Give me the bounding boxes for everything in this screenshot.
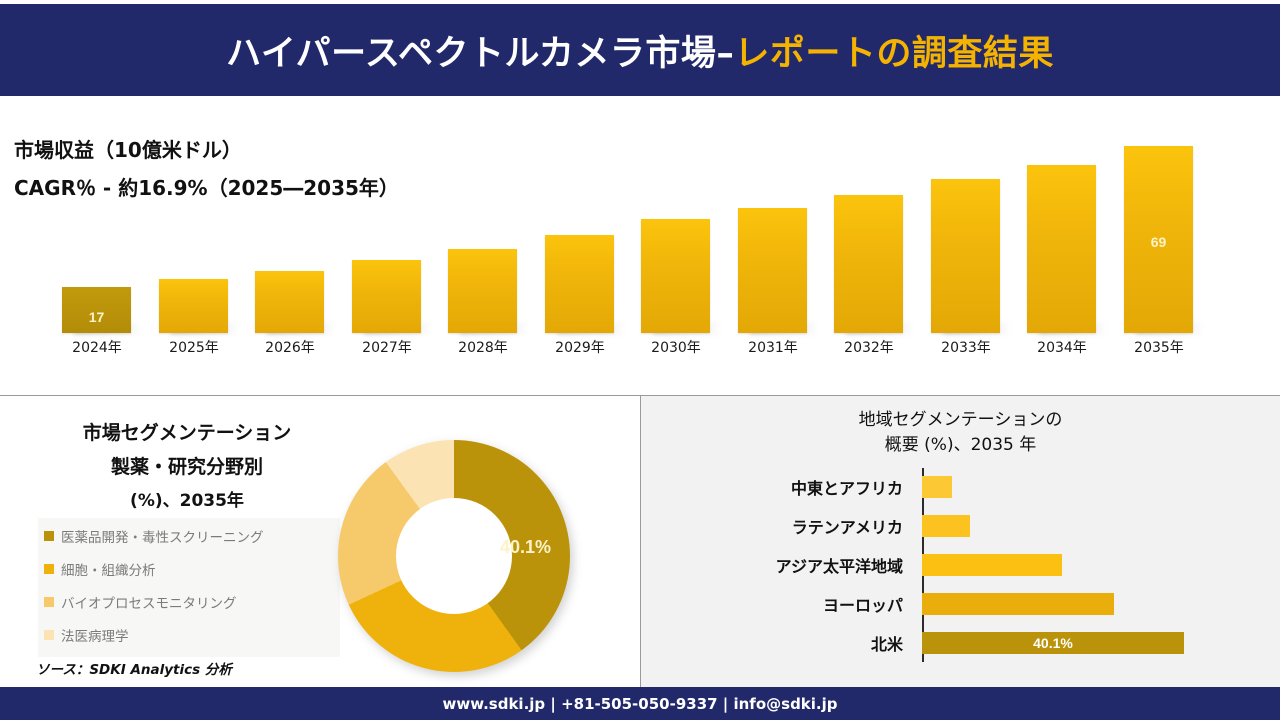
page-title-main: ハイパースペクトルカメラ市場– [226, 34, 734, 74]
regional-category-label: アジア太平洋地域 [641, 553, 915, 577]
regional-category-label: ヨーロッパ [641, 592, 915, 616]
page-header: ハイパースペクトルカメラ市場–レポートの調査結果 [0, 4, 1280, 96]
bar-category-label: 2027年 [337, 337, 437, 357]
bar-category-label: 2032年 [819, 337, 919, 357]
regional-category-label: ラテンアメリカ [641, 514, 915, 538]
bar-column[interactable] [545, 235, 614, 333]
legend-item[interactable]: 医薬品開発・毒性スクリーニング [44, 526, 334, 546]
legend-item-label: 細胞・組織分析 [61, 559, 156, 579]
bar-column[interactable] [352, 260, 421, 333]
regional-bar[interactable] [922, 515, 970, 537]
page-title: ハイパースペクトルカメラ市場–レポートの調査結果 [226, 25, 1054, 76]
revenue-bars: 172024年2025年2026年2027年2028年2029年2030年203… [0, 96, 1280, 395]
bar-column[interactable] [834, 195, 903, 333]
segmentation-title-line3: (%)、2035年 [22, 484, 352, 518]
legend-item[interactable]: 法医病理学 [44, 625, 334, 645]
bar-category-label: 2025年 [144, 337, 244, 357]
bar-column[interactable]: 17 [62, 287, 131, 333]
donut-hole [396, 498, 512, 614]
page-title-accent: レポートの調査結果 [734, 34, 1054, 74]
legend-item[interactable]: バイオプロセスモニタリング [44, 592, 334, 612]
bar-column[interactable] [159, 279, 228, 333]
bar-category-label: 2031年 [723, 337, 823, 357]
regional-title-line1: 地域セグメンテーションの [859, 410, 1063, 430]
bar-category-label: 2033年 [916, 337, 1016, 357]
regional-bar-row[interactable]: ラテンアメリカ [641, 507, 1280, 545]
regional-section: 地域セグメンテーションの 概要 (%)、2035 年 中東とアフリカラテンアメリ… [641, 396, 1280, 687]
legend-item-label: バイオプロセスモニタリング [61, 592, 237, 612]
bar-category-label: 2029年 [530, 337, 630, 357]
page-footer: www.sdki.jp | +81-505-050-9337 | info@sd… [0, 687, 1280, 720]
legend-swatch-icon [44, 597, 54, 607]
bar-column[interactable] [255, 271, 324, 333]
regional-bar[interactable] [922, 554, 1062, 576]
regional-bar[interactable] [922, 593, 1114, 615]
regional-bars: 中東とアフリカラテンアメリカアジア太平洋地域ヨーロッパ北米40.1% [641, 464, 1280, 679]
bar-column[interactable] [931, 179, 1000, 333]
bar[interactable] [641, 219, 710, 333]
segmentation-title-line1: 市場セグメンテーション [83, 422, 292, 444]
legend-item-label: 医薬品開発・毒性スクリーニング [61, 526, 264, 546]
bar[interactable] [159, 279, 228, 333]
segmentation-section: 市場セグメンテーション 製薬・研究分野別 (%)、2035年 医薬品開発・毒性ス… [0, 396, 640, 687]
bar[interactable] [1027, 165, 1096, 333]
segmentation-title-line2: 製薬・研究分野別 [22, 450, 352, 484]
bar-column[interactable] [641, 219, 710, 333]
bar-category-label: 2035年 [1109, 337, 1209, 357]
revenue-chart-section: 市場収益（10億米ドル） CAGR％ - 約16.9%（2025―2035年） … [0, 96, 1280, 395]
bar-category-label: 2030年 [626, 337, 726, 357]
footer-contact: www.sdki.jp | +81-505-050-9337 | info@sd… [442, 695, 837, 713]
bar-column[interactable] [448, 249, 517, 333]
bar-value-label: 17 [62, 309, 131, 325]
bar[interactable] [738, 208, 807, 333]
bar[interactable] [931, 179, 1000, 333]
legend-item[interactable]: 細胞・組織分析 [44, 559, 334, 579]
bar[interactable] [545, 235, 614, 333]
regional-category-label: 中東とアフリカ [641, 475, 915, 499]
regional-bar-track [922, 593, 1280, 615]
legend-swatch-icon [44, 630, 54, 640]
bar-category-label: 2024年 [47, 337, 147, 357]
regional-bar-track [922, 554, 1280, 576]
regional-bar-row[interactable]: 北米40.1% [641, 624, 1280, 662]
bar[interactable] [448, 249, 517, 333]
legend-swatch-icon [44, 531, 54, 541]
bar-column[interactable]: 69 [1124, 146, 1193, 333]
bar[interactable]: 69 [1124, 146, 1193, 333]
bar-column[interactable] [1027, 165, 1096, 333]
regional-bar[interactable] [922, 476, 952, 498]
regional-title: 地域セグメンテーションの 概要 (%)、2035 年 [641, 408, 1280, 458]
source-note: ソース：SDKI Analytics 分析 [36, 658, 232, 678]
regional-bar-track [922, 476, 1280, 498]
regional-category-label: 北米 [641, 631, 915, 655]
regional-bar-row[interactable]: 中東とアフリカ [641, 468, 1280, 506]
bar-category-label: 2034年 [1012, 337, 1112, 357]
bar-category-label: 2026年 [240, 337, 340, 357]
regional-bar-value-label: 40.1% [1033, 635, 1073, 651]
regional-title-line2: 概要 (%)、2035 年 [885, 435, 1037, 455]
regional-bar-track: 40.1% [922, 632, 1280, 654]
bar[interactable] [255, 271, 324, 333]
bar[interactable] [834, 195, 903, 333]
bar-column[interactable] [738, 208, 807, 333]
segmentation-donut-chart: 40.1% [330, 432, 600, 682]
regional-bar-track [922, 515, 1280, 537]
bar[interactable]: 17 [62, 287, 131, 333]
regional-bar[interactable]: 40.1% [922, 632, 1184, 654]
legend-swatch-icon [44, 564, 54, 574]
infographic-page: ハイパースペクトルカメラ市場–レポートの調査結果 市場収益（10億米ドル） CA… [0, 0, 1280, 720]
segmentation-legend: 医薬品開発・毒性スクリーニング細胞・組織分析バイオプロセスモニタリング法医病理学 [38, 518, 340, 657]
bar-category-label: 2028年 [433, 337, 533, 357]
regional-bar-row[interactable]: アジア太平洋地域 [641, 546, 1280, 584]
segmentation-title: 市場セグメンテーション 製薬・研究分野別 (%)、2035年 [22, 416, 352, 518]
legend-item-label: 法医病理学 [61, 625, 129, 645]
bar-value-label: 69 [1124, 234, 1193, 250]
donut-value-label: 40.1% [500, 537, 551, 558]
regional-bar-row[interactable]: ヨーロッパ [641, 585, 1280, 623]
bar[interactable] [352, 260, 421, 333]
